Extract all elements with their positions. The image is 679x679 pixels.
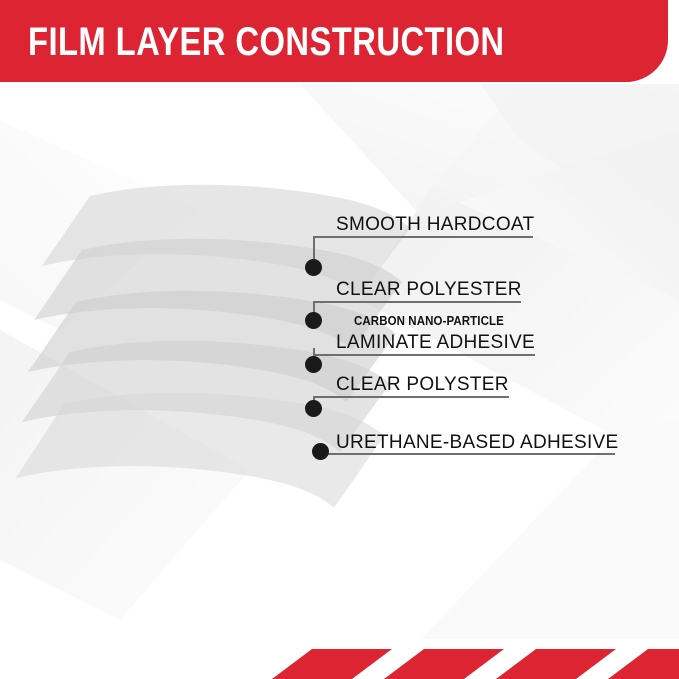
- leader-line-horizontal-5: [320, 453, 615, 455]
- page-title: FILM LAYER CONSTRUCTION: [28, 21, 505, 63]
- callout-dot-3[interactable]: [305, 356, 322, 373]
- callout-label-2: CLEAR POLYESTER: [336, 279, 522, 301]
- leader-line-horizontal-4: [313, 396, 509, 398]
- callout-label-5: URETHANE-BASED ADHESIVE: [336, 432, 618, 454]
- callout-dot-4[interactable]: [305, 400, 322, 417]
- callout-label-3: LAMINATE ADHESIVE: [336, 332, 535, 354]
- callout-dot-2[interactable]: [305, 312, 322, 329]
- callout-dot-5[interactable]: [312, 443, 329, 460]
- leader-line-horizontal-2: [313, 301, 521, 303]
- infographic-canvas: FILM LAYER CONSTRUCTION SMOOTH HARDCOAT: [0, 0, 679, 679]
- leader-line-horizontal-3: [313, 354, 535, 356]
- callout-label-1: SMOOTH HARDCOAT: [336, 214, 534, 236]
- callout-layer: SMOOTH HARDCOAT CLEAR POLYESTER CARBON N…: [0, 0, 679, 679]
- callout-label-4: CLEAR POLYSTER: [336, 374, 509, 396]
- callout-sublabel-3: CARBON NANO-PARTICLE: [354, 314, 504, 328]
- callout-dot-1[interactable]: [305, 259, 322, 276]
- leader-line-horizontal-1: [313, 236, 533, 238]
